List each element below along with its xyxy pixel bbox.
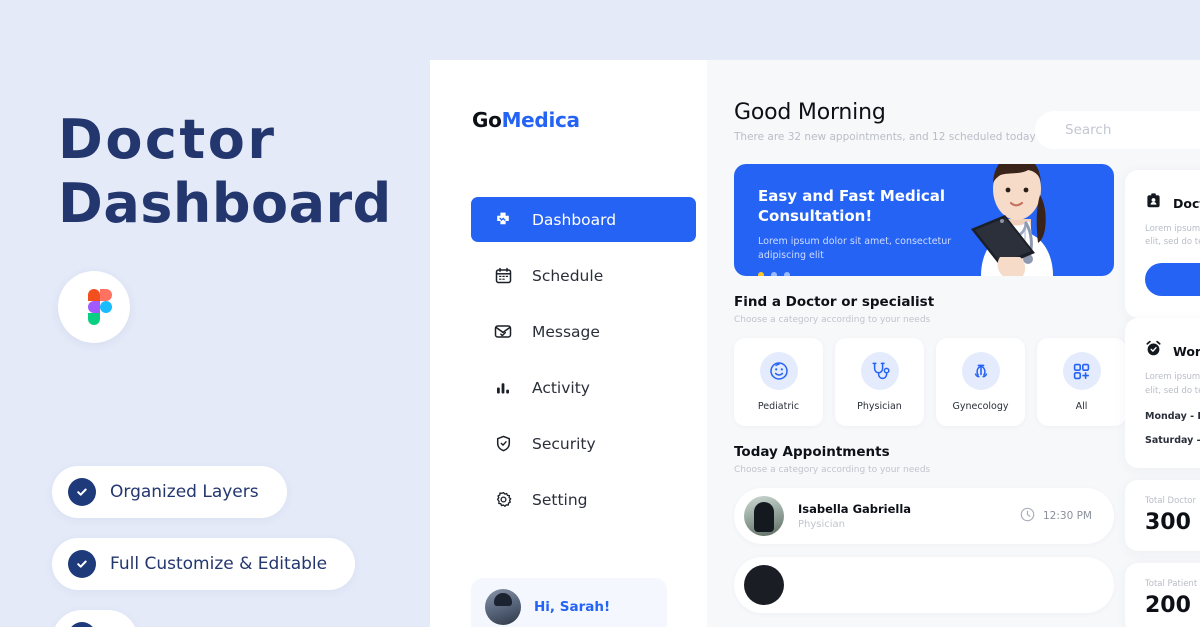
uterus-icon [962, 352, 1000, 390]
doctor-card-title: Doctor [1173, 196, 1200, 211]
working-hours-row: Monday - Frida [1145, 411, 1200, 422]
sidebar-user-card[interactable]: Hi, Sarah! [471, 578, 667, 627]
gear-icon [494, 491, 512, 509]
envelope-check-icon [494, 323, 512, 341]
appointment-time: 12:30 PM [1020, 507, 1092, 525]
greeting-title: Good Morning [734, 100, 1036, 125]
sidebar-item-schedule[interactable]: Schedule [471, 253, 696, 298]
avatar [744, 496, 784, 536]
feature-badge [52, 610, 138, 627]
hero-carousel-dots[interactable] [758, 272, 959, 276]
calendar-icon [494, 267, 512, 285]
doctor-card-body-line-2: elit, sed do tempo [1145, 237, 1200, 247]
greeting-subtitle: There are 32 new appointments, and 12 sc… [734, 131, 1036, 143]
appointment-name: Isabella Gabriella [798, 502, 1020, 516]
hero-subtitle-line-2: adipiscing elit [758, 250, 824, 261]
hero-title: Easy and Fast Medical Consultation! [758, 187, 959, 227]
search-placeholder: Search [1065, 122, 1111, 138]
feature-badge-list: Organized Layers Full Customize & Editab… [52, 466, 355, 627]
doctor-card-body-line-1: Lorem ipsum dolo [1145, 224, 1200, 234]
sidebar-item-activity[interactable]: Activity [471, 365, 696, 410]
category-label: Gynecology [953, 401, 1009, 412]
right-rail: Doctor Lorem ipsum dolo elit, sed do tem… [1125, 170, 1200, 627]
working-hours-row: Saturday - Mo [1145, 435, 1200, 446]
working-hours-head: Workin [1145, 340, 1200, 362]
sidebar-item-label: Message [532, 323, 600, 341]
sidebar-item-label: Setting [532, 491, 588, 509]
working-hours-body-line-1: Lorem ipsum dolo [1145, 372, 1200, 382]
feature-badge-label: Full Customize & Editable [110, 554, 327, 574]
promo-panel: Doctor Dashboard Organized Layers Full C… [0, 0, 430, 627]
alarm-clock-icon [1145, 340, 1162, 362]
doctor-info-card: Doctor Lorem ipsum dolo elit, sed do tem… [1125, 170, 1200, 318]
avatar [744, 565, 784, 605]
category-card-all[interactable]: All [1037, 338, 1126, 426]
sidebar-item-message[interactable]: Message [471, 309, 696, 354]
sidebar-nav: Dashboard Schedule Message Activity [430, 197, 707, 522]
feature-badge: Organized Layers [52, 466, 287, 518]
stat-card-total-doctors: Total Doctor 300 [1125, 480, 1200, 551]
consultation-button[interactable]: Con [1145, 263, 1200, 296]
brand-medica: Medica [502, 108, 580, 132]
appointment-time-label: 12:30 PM [1043, 510, 1092, 522]
doctor-badge-icon [1145, 192, 1162, 214]
check-circle-icon [68, 550, 96, 578]
stethoscope-icon [861, 352, 899, 390]
promo-title-line-2: Dashboard [58, 172, 430, 236]
feature-badge: Full Customize & Editable [52, 538, 355, 590]
hero-subtitle-line-1: Lorem ipsum dolor sit amet, consectetur [758, 236, 951, 247]
promo-title-line-1: Doctor [58, 108, 276, 171]
clock-icon [1020, 507, 1035, 525]
medical-cross-icon [494, 211, 512, 229]
carousel-dot-1[interactable] [758, 272, 764, 276]
appointment-role: Physician [798, 519, 1020, 530]
sidebar-item-security[interactable]: Security [471, 421, 696, 466]
check-circle-icon [68, 478, 96, 506]
hero-banner[interactable]: Easy and Fast Medical Consultation! Lore… [734, 164, 1114, 276]
stat-value: 300 [1145, 510, 1200, 535]
doctor-photo [945, 164, 1090, 276]
category-label: Pediatric [758, 401, 799, 412]
bar-chart-icon [494, 379, 512, 397]
page-title: Doctor Dashboard [58, 108, 430, 235]
working-hours-body-line-2: elit, sed do tempo [1145, 386, 1200, 396]
sidebar-item-setting[interactable]: Setting [471, 477, 696, 522]
feature-badge-label: Organized Layers [110, 482, 259, 502]
brand-go: Go [472, 108, 502, 132]
grid-plus-icon [1063, 352, 1101, 390]
carousel-dot-2[interactable] [771, 272, 777, 276]
stat-label: Total Patient [1145, 579, 1200, 589]
sidebar: GoMedica Dashboard Schedule Message [430, 60, 707, 627]
category-card-gynecology[interactable]: Gynecology [936, 338, 1025, 426]
sidebar-item-label: Schedule [532, 267, 603, 285]
stat-label: Total Doctor [1145, 496, 1200, 506]
sidebar-item-label: Security [532, 435, 596, 453]
sidebar-item-dashboard[interactable]: Dashboard [471, 197, 696, 242]
category-card-pediatric[interactable]: Pediatric [734, 338, 823, 426]
sidebar-item-label: Activity [532, 379, 590, 397]
baby-face-icon [760, 352, 798, 390]
check-circle-icon [68, 622, 96, 627]
category-card-physician[interactable]: Physician [835, 338, 924, 426]
user-greeting: Hi, Sarah! [534, 599, 610, 615]
shield-check-icon [494, 435, 512, 453]
sidebar-item-label: Dashboard [532, 211, 616, 229]
working-hours-title: Workin [1173, 344, 1200, 359]
hero-title-line-1: Easy and Fast Medical [758, 187, 945, 205]
figma-logo-icon [58, 271, 130, 343]
hero-subtitle: Lorem ipsum dolor sit amet, consectetur … [758, 235, 959, 263]
carousel-dot-3[interactable] [784, 272, 790, 276]
search-input[interactable]: Search [1035, 111, 1200, 149]
working-hours-card: Workin Lorem ipsum dolo elit, sed do tem… [1125, 318, 1200, 467]
appointment-row[interactable] [734, 557, 1114, 613]
doctor-card-body: Lorem ipsum dolo elit, sed do tempo [1145, 223, 1200, 249]
avatar [485, 589, 521, 625]
category-label: All [1076, 401, 1088, 412]
appointment-row[interactable]: Isabella Gabriella Physician 12:30 PM [734, 488, 1114, 544]
working-hours-body: Lorem ipsum dolo elit, sed do tempo [1145, 371, 1200, 397]
brand-logo[interactable]: GoMedica [430, 60, 707, 132]
hero-title-line-2: Consultation! [758, 207, 872, 225]
stat-value: 200 [1145, 593, 1200, 618]
doctor-card-head: Doctor [1145, 192, 1200, 214]
category-label: Physician [857, 401, 902, 412]
stat-card-total-patients: Total Patient 200 [1125, 563, 1200, 627]
